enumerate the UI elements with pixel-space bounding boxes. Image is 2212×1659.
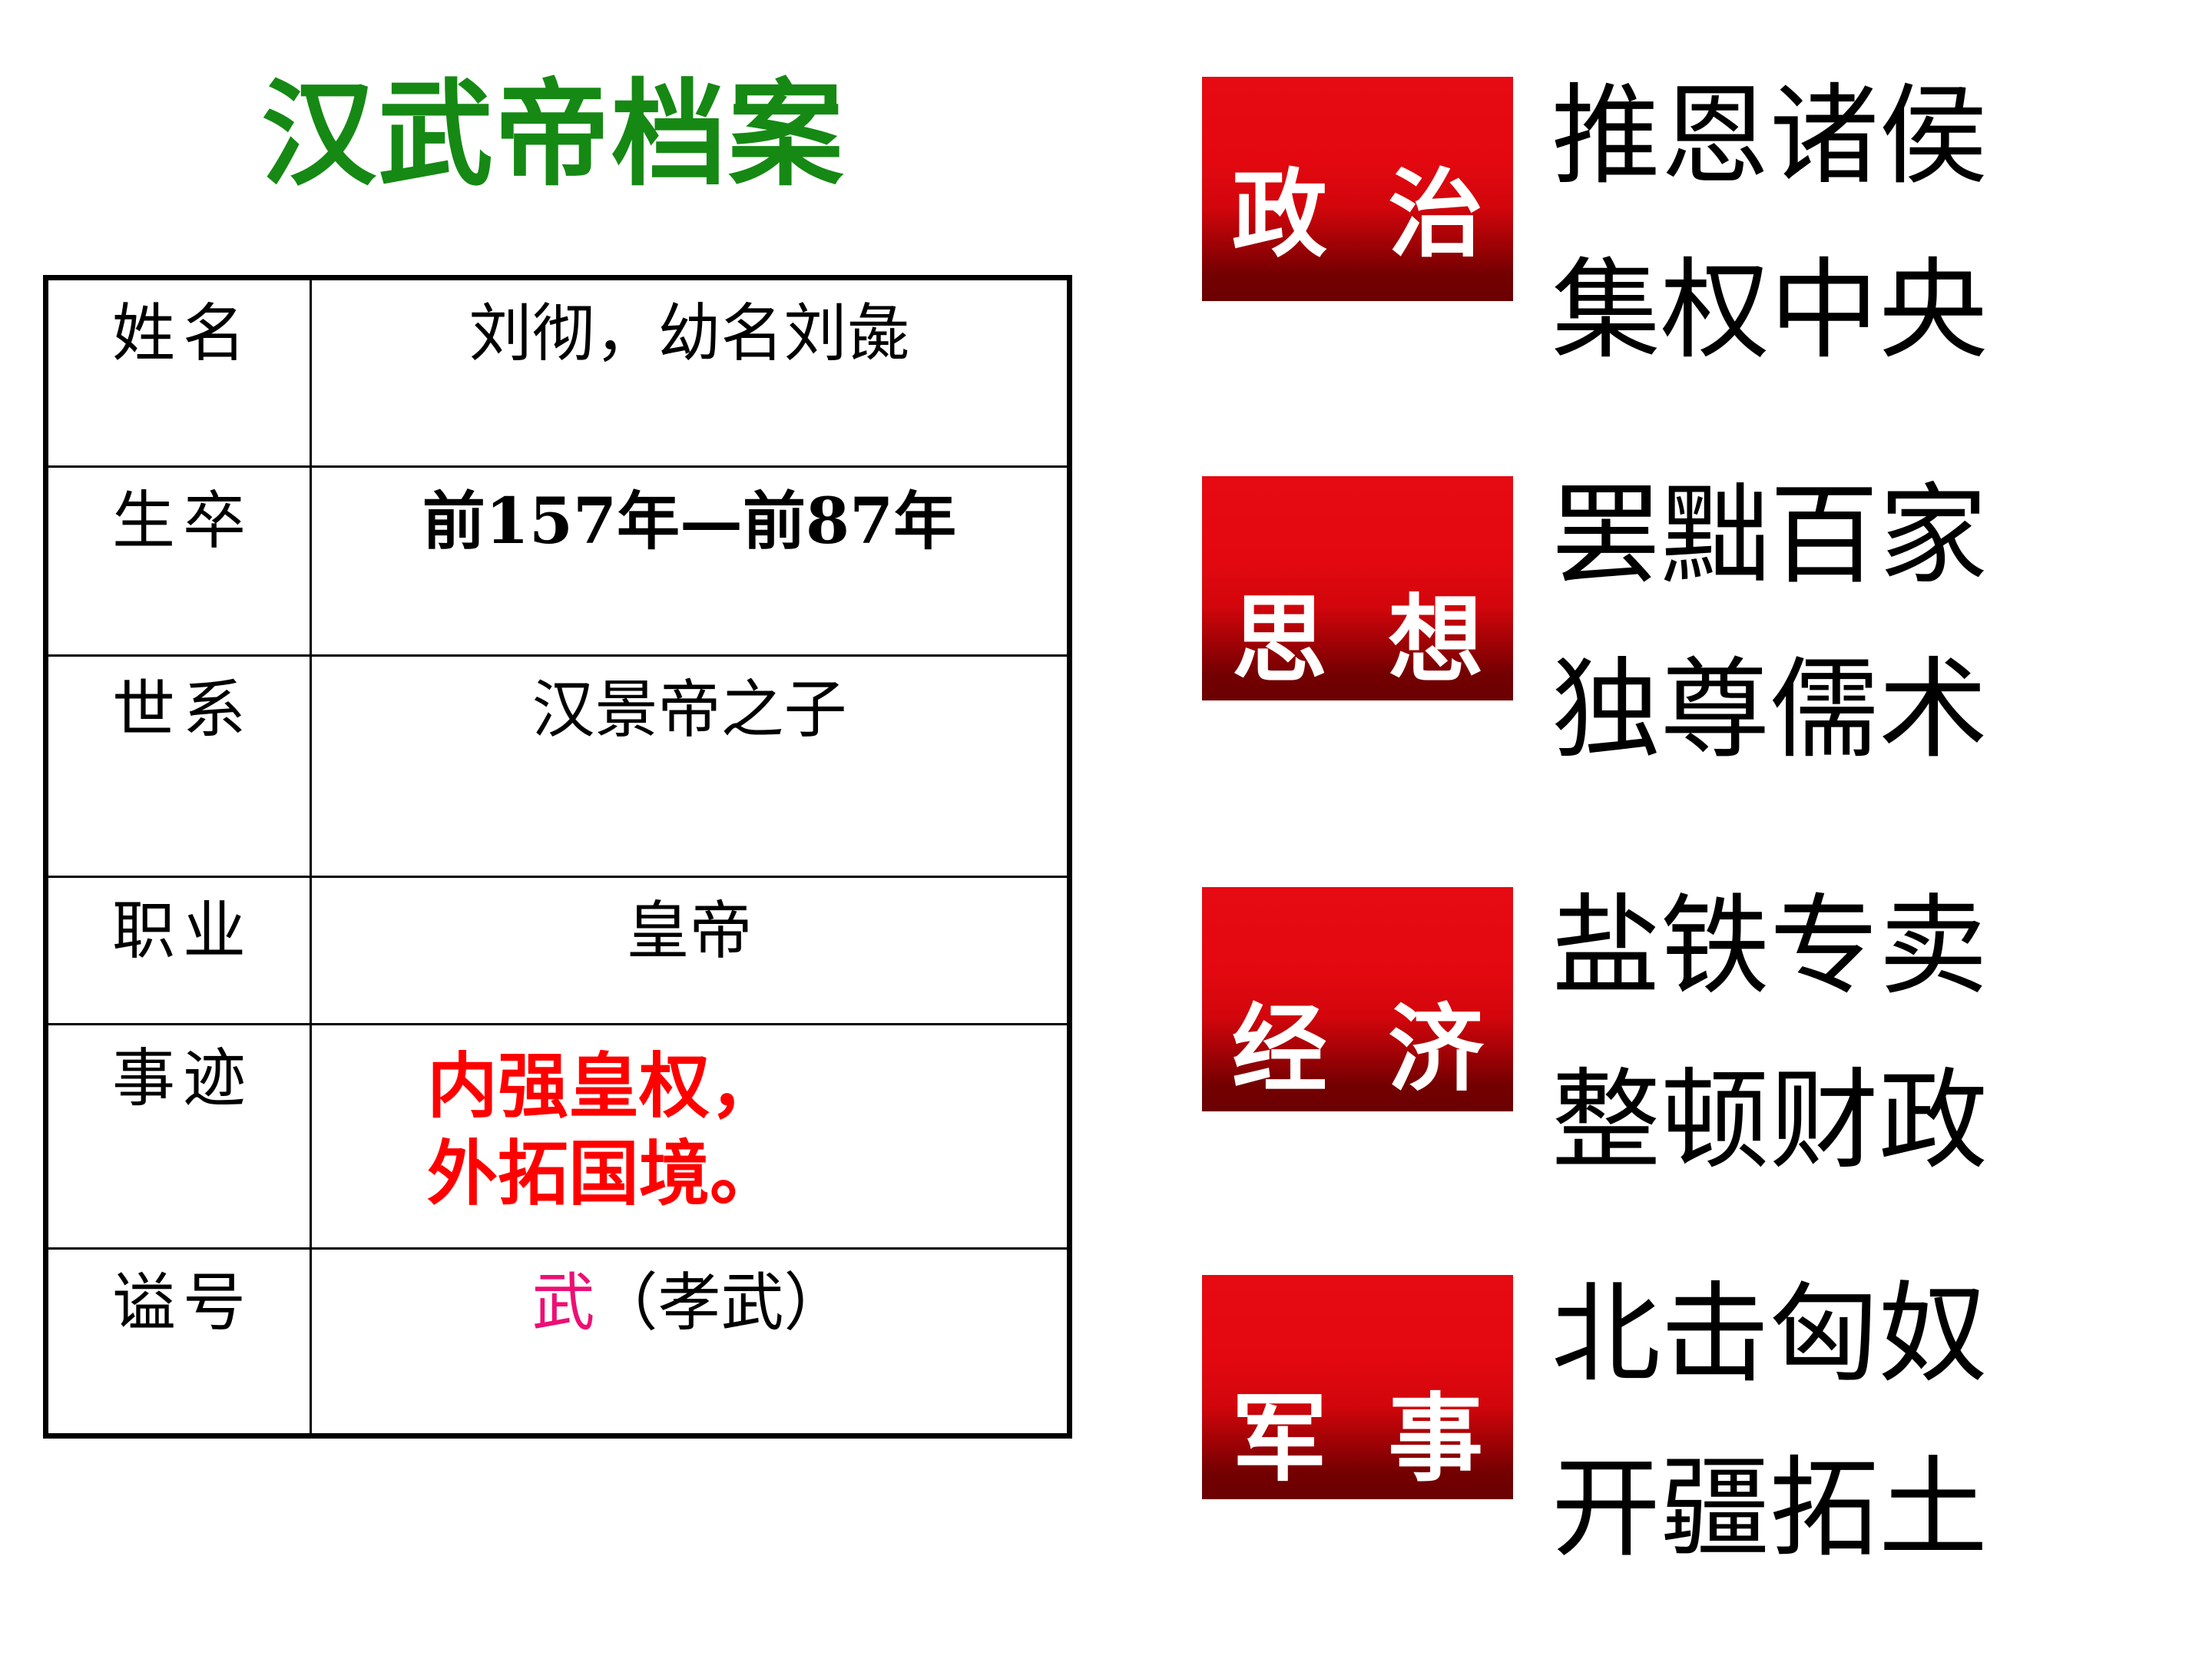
topic-lines-military: 北击匈奴 开疆拓土 <box>1551 1247 2212 1596</box>
posthumous-name-rest: （孝武） <box>595 1267 847 1339</box>
table-row: 谥号 武（孝武） <box>46 1249 1070 1436</box>
table-row: 姓名 刘彻，幼名刘彘 <box>46 278 1070 467</box>
row-label-name: 姓名 <box>48 280 310 379</box>
table-cell-label: 职业 <box>46 877 311 1025</box>
table-cell-label: 生卒 <box>46 467 311 656</box>
topic-line: 整顿财政 <box>1551 1034 2212 1208</box>
topic-line: 开疆拓土 <box>1551 1422 2212 1596</box>
row-label-occupation: 职业 <box>48 878 310 977</box>
topic-badge-label: 经 济 <box>1202 1002 1513 1098</box>
row-label-lineage: 世系 <box>48 657 310 756</box>
topic-lines-politics: 推恩诸侯 集权中央 <box>1551 49 2212 398</box>
table-row: 事迹 内强皇权，外拓国境。 <box>46 1025 1070 1249</box>
topic-lines-ideology: 罢黜百家 独尊儒术 <box>1551 449 2212 797</box>
table-cell-value: 前157年—前87年 <box>311 467 1070 656</box>
deeds-line-2: 外拓国境。 <box>427 1132 780 1215</box>
table-cell-value: 汉景帝之子 <box>311 656 1070 877</box>
topic-lines-economy: 盐铁专卖 整顿财政 <box>1551 859 2212 1208</box>
topic-badge-label: 政 治 <box>1202 167 1513 263</box>
row-value-lineage: 汉景帝之子 <box>312 657 1067 756</box>
row-label-posthumous-name: 谥号 <box>48 1250 310 1349</box>
deeds-line-1: 内强皇权， <box>427 1045 780 1128</box>
table-cell-value: 皇帝 <box>311 877 1070 1025</box>
row-label-deeds: 事迹 <box>48 1025 310 1124</box>
page-title: 汉武帝档案 <box>0 73 1106 197</box>
table-cell-label: 事迹 <box>46 1025 311 1249</box>
topic-group-politics: 政 治 推恩诸侯 集权中央 <box>1121 77 2212 422</box>
topic-badge-economy: 经 济 <box>1202 887 1513 1111</box>
posthumous-name-mark: 武 <box>531 1267 594 1339</box>
row-value-lifespan: 前157年—前87年 <box>312 468 1067 567</box>
topic-group-ideology: 思 想 罢黜百家 独尊儒术 <box>1121 476 2212 822</box>
row-label-lifespan: 生卒 <box>48 468 310 567</box>
table-row: 生卒 前157年—前87年 <box>46 467 1070 656</box>
topic-badge-military: 军 事 <box>1202 1275 1513 1499</box>
archive-panel: 汉武帝档案 姓名 刘彻，幼名刘彘 生卒 前157年—前87年 <box>0 0 1121 1659</box>
topic-line: 推恩诸侯 <box>1551 49 2212 224</box>
topics-panel: 政 治 推恩诸侯 集权中央 思 想 罢黜百家 独尊儒术 经 济 盐铁专卖 整顿财… <box>1121 0 2212 1659</box>
table-cell-value: 内强皇权，外拓国境。 <box>311 1025 1070 1249</box>
table-cell-value: 武（孝武） <box>311 1249 1070 1436</box>
table-cell-label: 姓名 <box>46 278 311 467</box>
topic-badge-ideology: 思 想 <box>1202 476 1513 700</box>
topic-line: 盐铁专卖 <box>1551 859 2212 1034</box>
topic-group-military: 军 事 北击匈奴 开疆拓土 <box>1121 1275 2212 1628</box>
row-value-name: 刘彻，幼名刘彘 <box>312 280 1067 379</box>
topic-badge-label: 军 事 <box>1202 1392 1513 1487</box>
topic-line: 集权中央 <box>1551 224 2212 398</box>
archive-table: 姓名 刘彻，幼名刘彘 生卒 前157年—前87年 世系 汉景 <box>43 275 1072 1439</box>
row-value-posthumous-name: 武（孝武） <box>312 1250 1067 1349</box>
table-cell-label: 世系 <box>46 656 311 877</box>
row-value-occupation: 皇帝 <box>312 878 1067 977</box>
topic-line: 北击匈奴 <box>1551 1247 2212 1422</box>
table-row: 世系 汉景帝之子 <box>46 656 1070 877</box>
table-row: 职业 皇帝 <box>46 877 1070 1025</box>
topic-line: 罢黜百家 <box>1551 449 2212 623</box>
row-value-deeds: 内强皇权，外拓国境。 <box>312 1025 1067 1225</box>
topic-badge-politics: 政 治 <box>1202 77 1513 301</box>
topic-badge-label: 思 想 <box>1202 593 1513 688</box>
topic-line: 独尊儒术 <box>1551 623 2212 797</box>
topic-group-economy: 经 济 盐铁专卖 整顿财政 <box>1121 887 2212 1233</box>
table-cell-label: 谥号 <box>46 1249 311 1436</box>
table-cell-value: 刘彻，幼名刘彘 <box>311 278 1070 467</box>
